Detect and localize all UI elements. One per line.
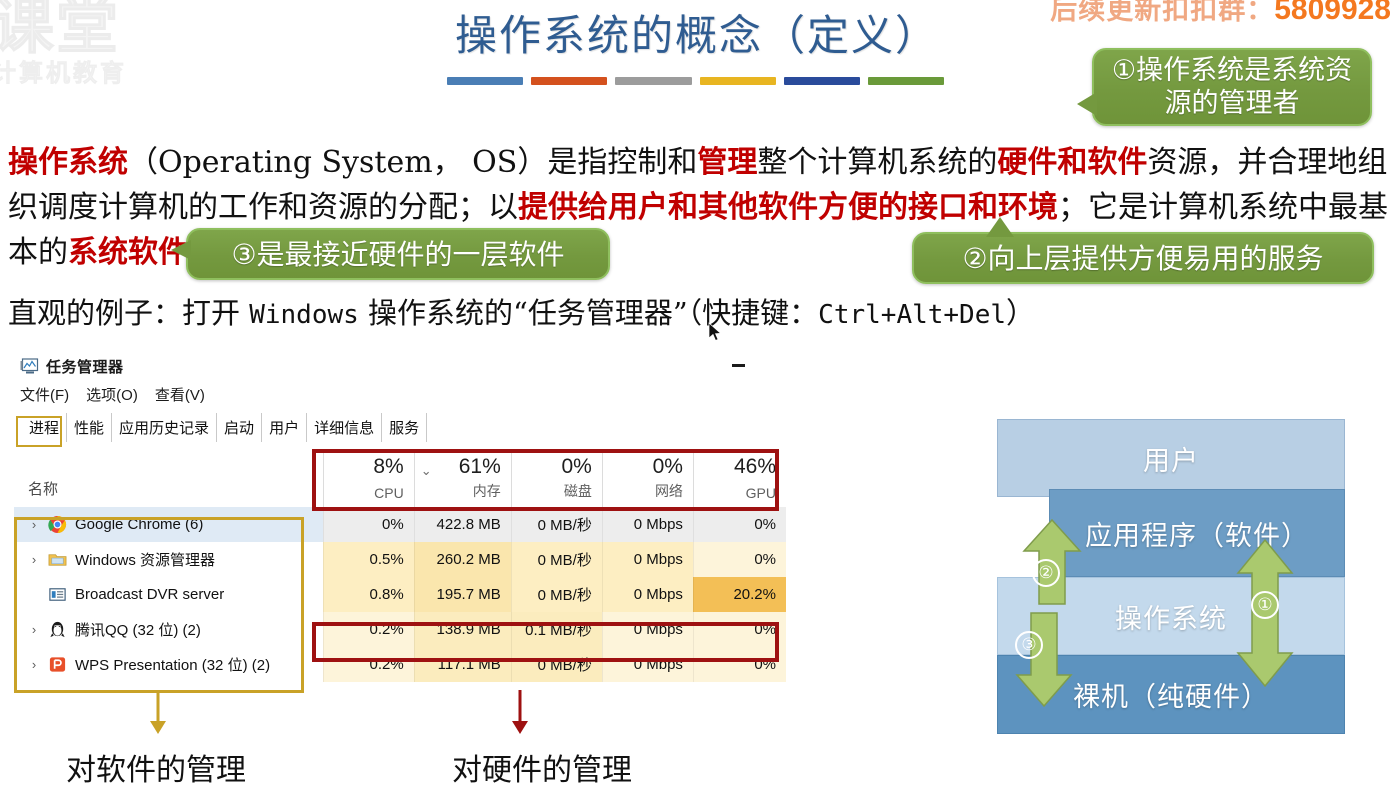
qq-group-number: 5809928 bbox=[1274, 0, 1391, 26]
layer-application: 应用程序（软件） bbox=[1049, 489, 1345, 577]
disk-cell: 0 MB/秒 bbox=[511, 507, 602, 542]
callout-3-text: ③是最接近硬件的一层软件 bbox=[231, 238, 564, 271]
example-shortcut: Ctrl+Alt+Del bbox=[818, 300, 1006, 330]
task-manager-titlebar: 任务管理器 bbox=[14, 353, 786, 379]
disk-cell: 0 MB/秒 bbox=[511, 542, 602, 577]
cpu-cell: 0.5% bbox=[323, 542, 414, 577]
slide-canvas: 课堂 计算机教育 后续更新扣扣群：5809928 操作系统的概念（定义） 操作系… bbox=[0, 0, 1395, 788]
qq-group-prefix: 后续更新扣扣群： bbox=[1050, 0, 1274, 25]
task-manager-title: 任务管理器 bbox=[46, 356, 124, 377]
term-system-software: 系统软件 bbox=[68, 235, 188, 270]
term-interface-environment: 提供给用户和其他软件方便的接口和环境 bbox=[518, 190, 1058, 225]
marker-1: ① bbox=[1251, 591, 1279, 619]
title-bar-2 bbox=[531, 77, 607, 85]
hardware-management-label: 对硬件的管理 bbox=[452, 745, 632, 788]
tab-performance[interactable]: 性能 bbox=[67, 413, 112, 442]
menu-view[interactable]: 查看(V) bbox=[155, 384, 205, 405]
example-mid: 操作系统的“任务管理器”（快捷键： bbox=[359, 296, 818, 330]
gpu-cell: 0% bbox=[693, 542, 786, 577]
title-bar-3 bbox=[615, 77, 691, 85]
mouse-cursor-icon bbox=[708, 322, 722, 342]
column-header-name[interactable]: 名称 bbox=[14, 451, 323, 507]
network-cell: 0 Mbps bbox=[602, 542, 693, 577]
cpu-cell: 0.8% bbox=[323, 577, 414, 612]
software-annotation-arrow bbox=[40, 688, 320, 738]
brand-watermark-logo: 课堂 计算机教育 bbox=[0, 0, 182, 94]
network-cell: 0 Mbps bbox=[602, 577, 693, 612]
term-hardware-software: 硬件和软件 bbox=[997, 145, 1147, 180]
title-bar-4 bbox=[700, 77, 776, 85]
gpu-cell: 20.2% bbox=[693, 577, 786, 612]
minimize-button[interactable] bbox=[732, 364, 745, 367]
tab-app-history[interactable]: 应用历史记录 bbox=[112, 413, 217, 442]
highlight-tab-processes bbox=[16, 416, 62, 447]
page-title: 操作系统的概念（定义） bbox=[447, 2, 947, 63]
qq-group-watermark: 后续更新扣扣群：5809928 bbox=[1050, 0, 1391, 27]
tab-users[interactable]: 用户 bbox=[262, 413, 307, 442]
os-layer-diagram: 用户 操作系统 裸机（纯硬件） 应用程序（软件） ② ③ ① bbox=[997, 419, 1345, 734]
task-manager-menubar: 文件(F) 选项(O) 查看(V) bbox=[14, 379, 786, 408]
highlight-column-headers bbox=[312, 449, 779, 511]
network-cell: 0 Mbps bbox=[602, 507, 693, 542]
brand-watermark-main: 课堂 bbox=[0, 0, 120, 62]
layer-os-label: 操作系统 bbox=[1115, 597, 1227, 636]
term-operating-system: 操作系统 bbox=[8, 145, 128, 180]
callout-1-text: ①操作系统是系统资源的管理者 bbox=[1106, 54, 1358, 120]
disk-cell: 0 MB/秒 bbox=[511, 577, 602, 612]
callout-1-resource-manager: ①操作系统是系统资源的管理者 bbox=[1092, 48, 1372, 126]
layer-user-label: 用户 bbox=[1143, 439, 1199, 478]
tab-services[interactable]: 服务 bbox=[382, 413, 427, 442]
para-plain-2: 整个计算机系统的 bbox=[757, 145, 997, 180]
callout-2-services-upward: ②向上层提供方便易用的服务 bbox=[912, 232, 1374, 284]
memory-cell: 260.2 MB bbox=[414, 542, 511, 577]
task-manager-tabs: 进程 性能 应用历史记录 启动 用户 详细信息 服务 bbox=[14, 412, 786, 442]
callout-3-tail bbox=[171, 240, 191, 260]
menu-options[interactable]: 选项(O) bbox=[86, 384, 138, 405]
example-line: 直观的例子：打开 Windows 操作系统的“任务管理器”（快捷键：Ctrl+A… bbox=[8, 292, 1208, 336]
memory-cell: 422.8 MB bbox=[414, 507, 511, 542]
hardware-annotation-arrow bbox=[480, 688, 600, 738]
marker-3: ③ bbox=[1015, 631, 1043, 659]
callout-3-closest-to-hardware: ③是最接近硬件的一层软件 bbox=[186, 228, 610, 280]
marker-2: ② bbox=[1032, 559, 1060, 587]
arrow-down-3-icon bbox=[1013, 609, 1075, 709]
software-management-label: 对软件的管理 bbox=[66, 745, 246, 788]
title-decoration-bars bbox=[447, 77, 944, 85]
gpu-cell: 0% bbox=[693, 507, 786, 542]
title-bar-5 bbox=[784, 77, 860, 85]
highlight-process-names bbox=[14, 517, 304, 693]
example-suffix: ） bbox=[1006, 296, 1035, 330]
tab-details[interactable]: 详细信息 bbox=[307, 413, 382, 442]
example-prefix: 直观的例子：打开 bbox=[8, 296, 249, 330]
layer-user: 用户 bbox=[997, 419, 1345, 497]
brand-watermark-sub: 计算机教育 bbox=[0, 58, 182, 88]
menu-file[interactable]: 文件(F) bbox=[20, 384, 69, 405]
memory-cell: 195.7 MB bbox=[414, 577, 511, 612]
term-manage: 管理 bbox=[697, 145, 757, 180]
callout-2-tail bbox=[986, 217, 1014, 237]
para-plain-1: （Operating System， OS）是指控制和 bbox=[128, 145, 697, 180]
title-bar-1 bbox=[447, 77, 523, 85]
callout-2-text: ②向上层提供方便易用的服务 bbox=[962, 242, 1323, 275]
callout-1-tail bbox=[1077, 92, 1097, 116]
task-manager-icon bbox=[20, 358, 39, 375]
example-windows: Windows bbox=[249, 300, 359, 330]
highlight-qq-row-metrics bbox=[312, 622, 779, 662]
title-bar-6 bbox=[868, 77, 944, 85]
tab-startup[interactable]: 启动 bbox=[217, 413, 262, 442]
cpu-cell: 0% bbox=[323, 507, 414, 542]
